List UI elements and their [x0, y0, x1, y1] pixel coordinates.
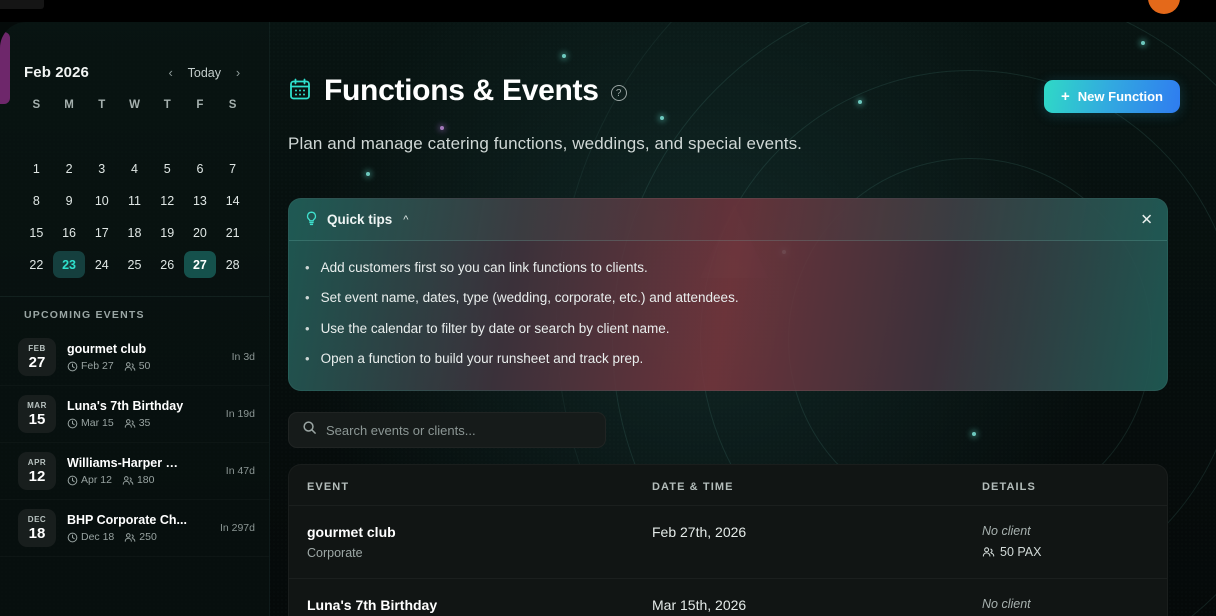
event-date-chip: MAR15	[18, 395, 56, 433]
calendar-day-cell[interactable]: 19	[151, 219, 184, 246]
calendar-day-cell[interactable]: 10	[85, 187, 118, 214]
row-pax-text: 50 PAX	[1000, 545, 1041, 559]
cell-event: Luna's 7th BirthdayKids Birthday	[307, 597, 652, 616]
event-date-chip: APR12	[18, 452, 56, 490]
calendar-empty-cell	[151, 123, 184, 150]
calendar-empty-cell	[53, 123, 86, 150]
chevron-right-icon[interactable]: ›	[231, 66, 245, 79]
calendar-day-cell[interactable]: 14	[216, 187, 249, 214]
event-info: gourmet clubFeb 2750	[67, 342, 221, 372]
event-chip-day: 15	[29, 412, 46, 427]
event-chip-day: 12	[29, 469, 46, 484]
quick-tip-item: •Set event name, dates, type (wedding, c…	[289, 283, 1167, 313]
calendar-day-initial: W	[118, 95, 151, 118]
calendar-day-initial: F	[184, 95, 217, 118]
event-pax-text: 50	[139, 360, 151, 372]
upcoming-event-item[interactable]: DEC18BHP Corporate Ch...Dec 18250In 297d	[0, 500, 269, 557]
quick-tip-item: •Add customers first so you can link fun…	[289, 253, 1167, 283]
calendar-day-cell[interactable]: 1	[20, 155, 53, 182]
row-client: No client	[982, 524, 1149, 538]
calendar-day-cell[interactable]: 18	[118, 219, 151, 246]
quick-tips-panel: Quick tips ^ ✕ •Add customers first so y…	[288, 198, 1168, 391]
calendar-nav: ‹ Today ›	[164, 66, 245, 80]
table-row[interactable]: gourmet clubCorporateFeb 27th, 2026No cl…	[289, 505, 1167, 578]
calendar-day-cell[interactable]: 8	[20, 187, 53, 214]
sidebar: Feb 2026 ‹ Today › SMTWTFS12345678910111…	[0, 22, 270, 616]
event-countdown: In 47d	[226, 465, 255, 477]
event-chip-month: DEC	[28, 516, 46, 524]
calendar-day-cell[interactable]: 5	[151, 155, 184, 182]
quick-tip-item: •Open a function to build your runsheet …	[289, 344, 1167, 374]
event-date-chip: DEC18	[18, 509, 56, 547]
event-name: Luna's 7th Birthday	[67, 399, 187, 413]
calendar-day-cell[interactable]: 20	[184, 219, 217, 246]
event-date: Apr 12	[67, 474, 112, 486]
event-date-text: Apr 12	[81, 474, 112, 486]
people-icon	[124, 418, 136, 429]
quick-tips-title: Quick tips	[327, 212, 392, 227]
upcoming-event-item[interactable]: FEB27gourmet clubFeb 2750In 3d	[0, 329, 269, 386]
quick-tips-header[interactable]: Quick tips ^ ✕	[289, 199, 1167, 241]
calendar-day-cell[interactable]: 28	[216, 251, 249, 278]
calendar-day-cell[interactable]: 26	[151, 251, 184, 278]
event-chip-day: 18	[29, 526, 46, 541]
cell-date: Mar 15th, 2026	[652, 597, 982, 616]
people-icon	[124, 532, 136, 543]
calendar-empty-cell	[20, 123, 53, 150]
calendar-empty-cell	[184, 123, 217, 150]
bullet-icon: •	[305, 260, 310, 276]
chevron-up-icon[interactable]: ^	[403, 214, 408, 226]
event-pax-text: 250	[139, 531, 157, 543]
plus-icon: +	[1061, 89, 1070, 104]
calendar-day-cell[interactable]: 21	[216, 219, 249, 246]
row-event-name: gourmet club	[307, 524, 652, 540]
calendar-day-cell[interactable]: 17	[85, 219, 118, 246]
search-input[interactable]	[326, 423, 592, 438]
event-pax: 250	[124, 531, 157, 543]
upcoming-events-list: FEB27gourmet clubFeb 2750In 3dMAR15Luna'…	[0, 329, 269, 557]
event-date-text: Dec 18	[81, 531, 114, 543]
new-function-button[interactable]: + New Function	[1044, 80, 1180, 113]
event-date-text: Mar 15	[81, 417, 114, 429]
close-icon[interactable]: ✕	[1140, 212, 1153, 227]
clock-icon	[67, 418, 78, 429]
event-info: Williams-Harper W...Apr 12180	[67, 456, 215, 486]
row-event-name: Luna's 7th Birthday	[307, 597, 652, 613]
calendar-icon	[288, 77, 312, 106]
column-header-details: DETAILS	[982, 481, 1149, 493]
event-meta: Mar 1535	[67, 417, 215, 429]
calendar-day-cell[interactable]: 2	[53, 155, 86, 182]
column-header-date-time: DATE & TIME	[652, 481, 982, 493]
upcoming-event-item[interactable]: APR12Williams-Harper W...Apr 12180In 47d	[0, 443, 269, 500]
cell-event: gourmet clubCorporate	[307, 524, 652, 560]
event-pax-text: 180	[137, 474, 155, 486]
quick-tip-text: Use the calendar to filter by date or se…	[321, 321, 670, 336]
event-info: Luna's 7th BirthdayMar 1535	[67, 399, 215, 429]
event-info: BHP Corporate Ch...Dec 18250	[67, 513, 209, 543]
calendar-day-cell[interactable]: 6	[184, 155, 217, 182]
table-header-row: EVENT DATE & TIME DETAILS	[289, 465, 1167, 505]
people-icon	[124, 361, 136, 372]
cell-date: Feb 27th, 2026	[652, 524, 982, 560]
event-name: BHP Corporate Ch...	[67, 513, 187, 527]
event-date-text: Feb 27	[81, 360, 114, 372]
event-meta: Feb 2750	[67, 360, 221, 372]
page-title: Functions & Events	[324, 74, 599, 108]
event-date-chip: FEB27	[18, 338, 56, 376]
event-meta: Apr 12180	[67, 474, 215, 486]
os-top-bar-chip	[0, 0, 44, 9]
calendar-empty-cell	[85, 123, 118, 150]
event-name: Williams-Harper W...	[67, 456, 187, 470]
event-meta: Dec 18250	[67, 531, 209, 543]
quick-tips-body: •Add customers first so you can link fun…	[289, 241, 1167, 390]
row-event-date: Feb 27th, 2026	[652, 524, 982, 540]
events-table: EVENT DATE & TIME DETAILS gourmet clubCo…	[288, 464, 1168, 616]
calendar-day-cell[interactable]: 13	[184, 187, 217, 214]
event-name: gourmet club	[67, 342, 187, 356]
help-circle-icon[interactable]: ?	[611, 85, 627, 101]
calendar-day-cell[interactable]: 15	[20, 219, 53, 246]
calendar-grid: SMTWTFS123456789101112131415161718192021…	[20, 95, 249, 278]
app-shell: Feb 2026 ‹ Today › SMTWTFS12345678910111…	[0, 22, 1216, 616]
calendar-day-initial: T	[85, 95, 118, 118]
page-header: Functions & Events ?	[288, 74, 627, 108]
new-function-label: New Function	[1078, 89, 1163, 104]
clock-icon	[67, 475, 78, 486]
event-chip-day: 27	[29, 355, 46, 370]
quick-tip-text: Add customers first so you can link func…	[321, 260, 648, 275]
event-pax-text: 35	[139, 417, 151, 429]
row-event-type: Corporate	[307, 546, 652, 560]
event-chip-month: MAR	[27, 402, 47, 410]
event-chip-month: APR	[28, 459, 46, 467]
search-icon	[302, 420, 317, 440]
calendar-day-initial: S	[20, 95, 53, 118]
calendar-today-button[interactable]: Today	[188, 66, 221, 80]
calendar-header: Feb 2026 ‹ Today ›	[0, 22, 269, 81]
calendar-empty-cell	[216, 123, 249, 150]
calendar-day-cell[interactable]: 27	[184, 251, 217, 278]
calendar-day-cell[interactable]: 25	[118, 251, 151, 278]
upcoming-events-title: UPCOMING EVENTS	[0, 296, 269, 329]
calendar-day-cell[interactable]: 11	[118, 187, 151, 214]
calendar-day-cell[interactable]: 23	[53, 251, 86, 278]
os-top-bar	[0, 0, 1216, 22]
bullet-icon: •	[305, 290, 310, 306]
calendar-day-cell[interactable]: 3	[85, 155, 118, 182]
calendar-day-cell[interactable]: 12	[151, 187, 184, 214]
page-subtitle: Plan and manage catering functions, wedd…	[288, 134, 802, 154]
calendar-day-cell[interactable]: 9	[53, 187, 86, 214]
calendar-day-cell[interactable]: 16	[53, 219, 86, 246]
event-pax: 50	[124, 360, 151, 372]
event-countdown: In 19d	[226, 408, 255, 420]
clock-icon	[67, 532, 78, 543]
event-countdown: In 297d	[220, 522, 255, 534]
cell-details: No client35 PAX	[982, 597, 1149, 616]
event-date: Mar 15	[67, 417, 114, 429]
app-root: Feb 2026 ‹ Today › SMTWTFS12345678910111…	[0, 0, 1216, 616]
cell-details: No client50 PAX	[982, 524, 1149, 560]
event-countdown: In 3d	[232, 351, 255, 363]
calendar-day-cell[interactable]: 24	[85, 251, 118, 278]
search-box[interactable]	[288, 412, 606, 448]
event-pax: 35	[124, 417, 151, 429]
event-date: Dec 18	[67, 531, 114, 543]
bullet-icon: •	[305, 321, 310, 337]
calendar-empty-cell	[118, 123, 151, 150]
lightbulb-icon	[305, 211, 318, 228]
quick-tip-text: Set event name, dates, type (wedding, co…	[321, 290, 739, 305]
column-header-event: EVENT	[307, 481, 652, 493]
table-body: gourmet clubCorporateFeb 27th, 2026No cl…	[289, 505, 1167, 616]
event-chip-month: FEB	[28, 345, 46, 353]
calendar-day-cell[interactable]: 22	[20, 251, 53, 278]
calendar-day-cell[interactable]: 7	[216, 155, 249, 182]
row-pax: 50 PAX	[982, 545, 1149, 559]
chevron-left-icon[interactable]: ‹	[164, 66, 178, 79]
calendar-day-initial: S	[216, 95, 249, 118]
table-row[interactable]: Luna's 7th BirthdayKids BirthdayMar 15th…	[289, 578, 1167, 616]
quick-tip-item: •Use the calendar to filter by date or s…	[289, 314, 1167, 344]
row-client: No client	[982, 597, 1149, 611]
people-icon	[982, 546, 995, 558]
people-icon	[122, 475, 134, 486]
main-content: Functions & Events ? Plan and manage cat…	[270, 22, 1216, 616]
row-event-date: Mar 15th, 2026	[652, 597, 982, 613]
calendar-month-label: Feb 2026	[24, 64, 89, 81]
clock-icon	[67, 361, 78, 372]
quick-tip-text: Open a function to build your runsheet a…	[321, 351, 644, 366]
event-pax: 180	[122, 474, 155, 486]
calendar-day-cell[interactable]: 4	[118, 155, 151, 182]
calendar-day-initial: M	[53, 95, 86, 118]
event-date: Feb 27	[67, 360, 114, 372]
bullet-icon: •	[305, 351, 310, 367]
upcoming-event-item[interactable]: MAR15Luna's 7th BirthdayMar 1535In 19d	[0, 386, 269, 443]
calendar-day-initial: T	[151, 95, 184, 118]
